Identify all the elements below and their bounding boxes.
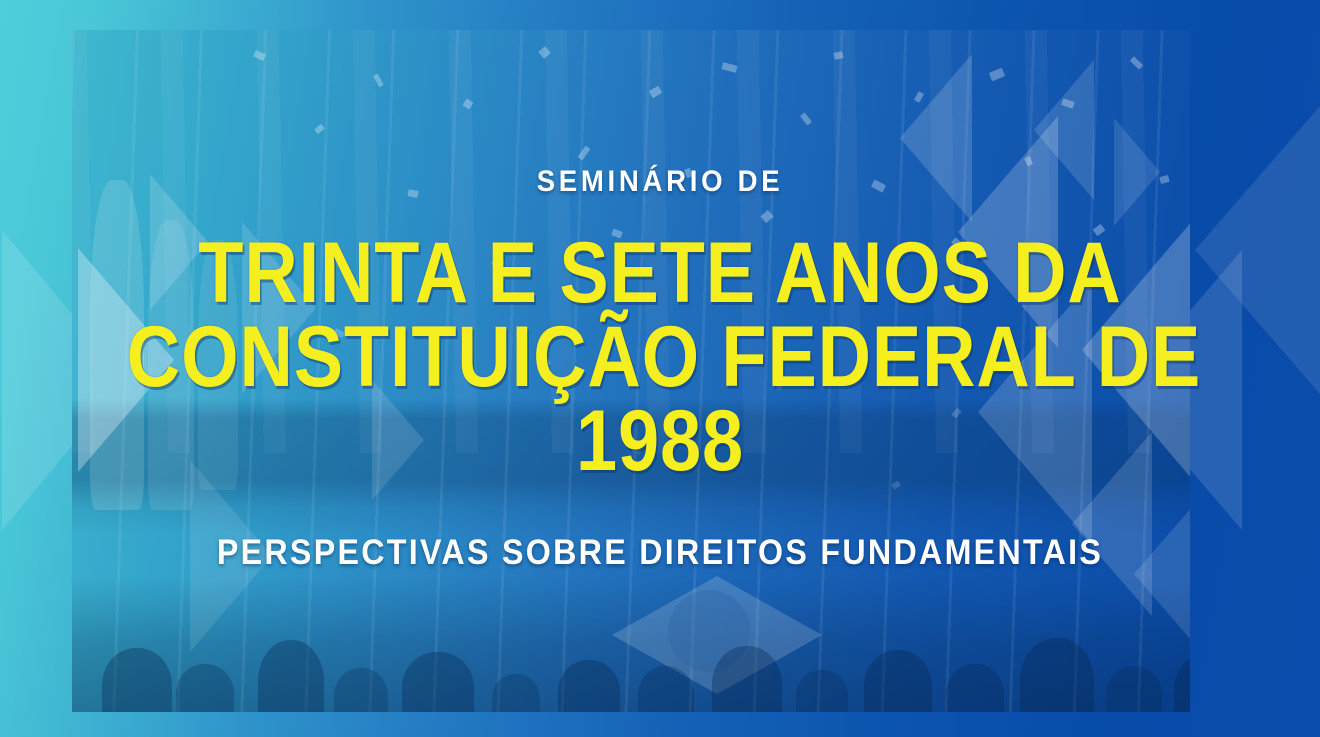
- headline-line-3: 1988: [127, 399, 1193, 483]
- banner-eyebrow: SEMINÁRIO DE: [53, 167, 1267, 197]
- headline-line-1: TRINTA E SETE ANOS DA: [127, 231, 1193, 315]
- event-banner: SEMINÁRIO DE TRINTA E SETE ANOS DA CONST…: [0, 0, 1320, 737]
- headline-line-2: CONSTITUIÇÃO FEDERAL DE: [127, 315, 1193, 399]
- banner-headline: TRINTA E SETE ANOS DA CONSTITUIÇÃO FEDER…: [92, 231, 1227, 484]
- banner-subtitle: PERSPECTIVAS SOBRE DIREITOS FUNDAMENTAIS: [53, 535, 1267, 570]
- brazil-flag-globe: [668, 590, 750, 672]
